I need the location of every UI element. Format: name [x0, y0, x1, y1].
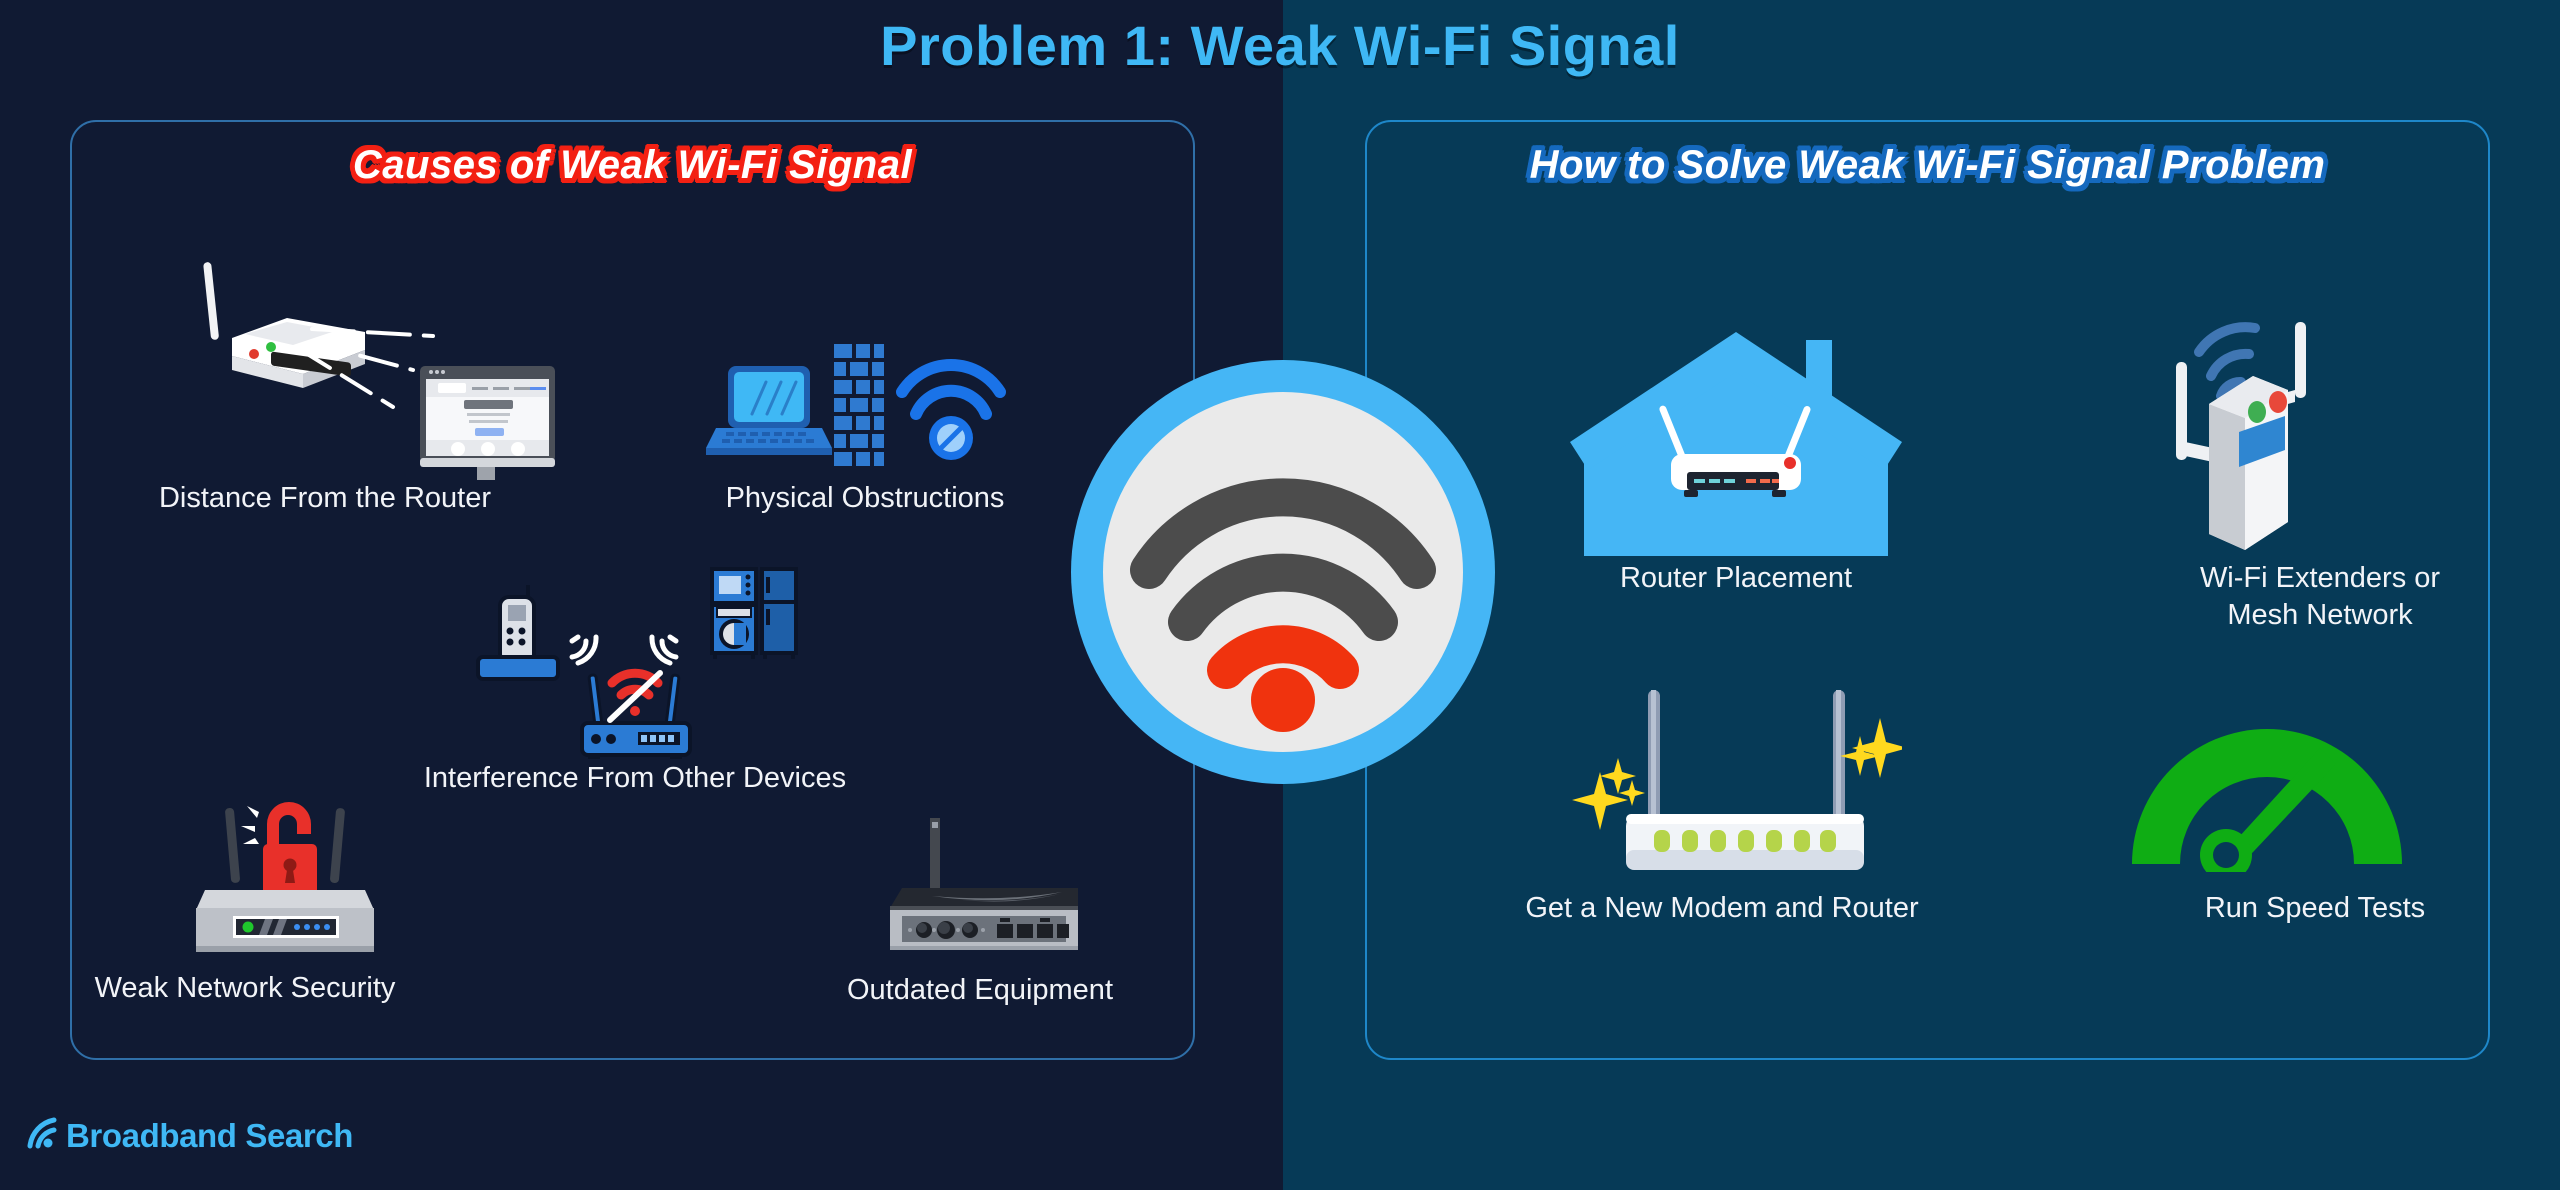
label-run-speed-tests: Run Speed Tests: [2150, 890, 2480, 927]
speedometer-gauge-icon: [2122, 712, 2412, 872]
old-modem-icon: [862, 800, 1097, 960]
wifi-logo-icon: [24, 1116, 60, 1155]
infographic-canvas: Problem 1: Weak Wi-Fi Signal Causes of W…: [0, 0, 2560, 1190]
house-with-router-icon: [1566, 330, 1906, 556]
cordless-phone-appliances-router-icon: [460, 545, 800, 760]
weak-wifi-signal-badge-icon: [1063, 352, 1503, 792]
wifi-extender-icon: [2143, 322, 2393, 562]
label-weak-network-security: Weak Network Security: [35, 970, 455, 1007]
label-new-modem-router: Get a New Modem and Router: [1512, 890, 1932, 927]
label-distance-from-router: Distance From the Router: [75, 480, 575, 517]
label-wifi-extenders: Wi-Fi Extenders or Mesh Network: [2160, 560, 2480, 634]
laptop-brickwall-nosignal-icon: [700, 320, 1030, 490]
label-router-placement: Router Placement: [1566, 560, 1906, 597]
page-title: Problem 1: Weak Wi-Fi Signal: [0, 13, 2560, 78]
router-to-monitor-icon: [175, 250, 575, 480]
causes-heading: Causes of Weak Wi-Fi Signal: [70, 143, 1195, 188]
label-interference: Interference From Other Devices: [390, 760, 880, 797]
label-physical-obstructions: Physical Obstructions: [640, 480, 1090, 517]
label-outdated-equipment: Outdated Equipment: [790, 972, 1170, 1009]
new-router-sparkles-icon: [1542, 672, 1902, 872]
router-open-padlock-icon: [175, 782, 395, 957]
brand-name: Broadband Search: [66, 1117, 353, 1155]
brand-logo[interactable]: Broadband Search: [24, 1116, 353, 1155]
solutions-heading: How to Solve Weak Wi-Fi Signal Problem: [1365, 143, 2490, 188]
